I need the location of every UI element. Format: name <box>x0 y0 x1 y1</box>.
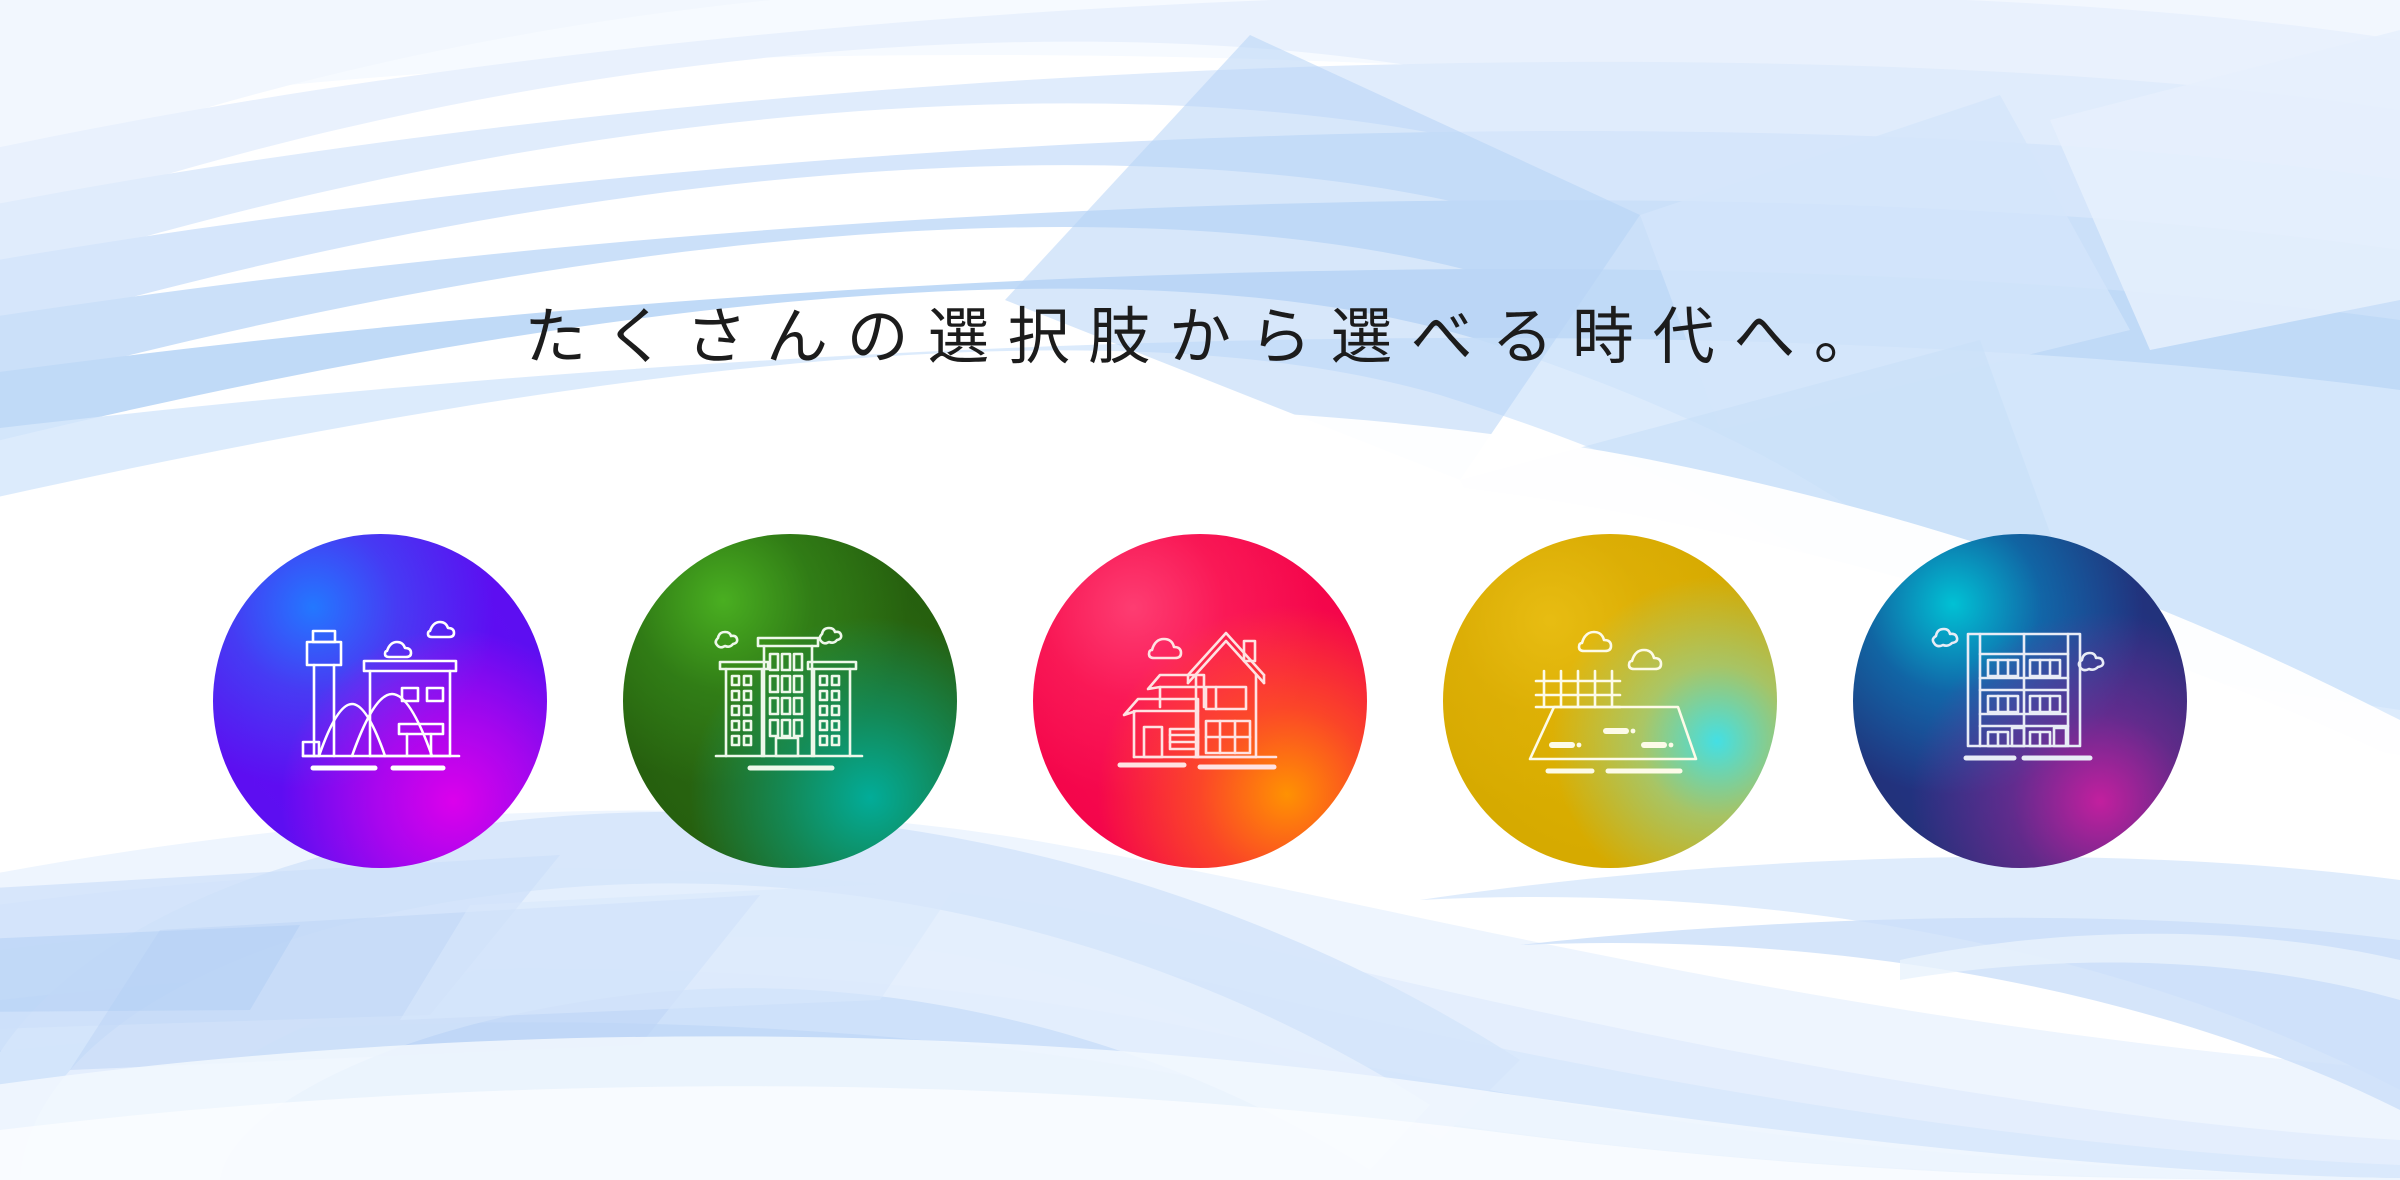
apartment-building-icon <box>1930 620 2110 782</box>
headline-container: たくさんの選択肢から選べる時代へ。 <box>0 262 2400 413</box>
office-building-icon <box>710 616 870 786</box>
category-circle-house[interactable] <box>1033 534 1367 868</box>
parking-lot-icon <box>1520 621 1700 781</box>
category-circle-row <box>0 534 2400 868</box>
category-circle-industrial[interactable] <box>213 534 547 868</box>
category-circle-parking[interactable] <box>1443 534 1777 868</box>
hero-banner: たくさんの選択肢から選べる時代へ。 <box>0 0 2400 1180</box>
hero-headline: たくさんの選択肢から選べる時代へ。 <box>506 304 1895 372</box>
category-circle-office[interactable] <box>623 534 957 868</box>
factory-icon <box>291 616 469 786</box>
detached-house-icon <box>1114 617 1286 785</box>
category-circle-apartment[interactable] <box>1853 534 2187 868</box>
